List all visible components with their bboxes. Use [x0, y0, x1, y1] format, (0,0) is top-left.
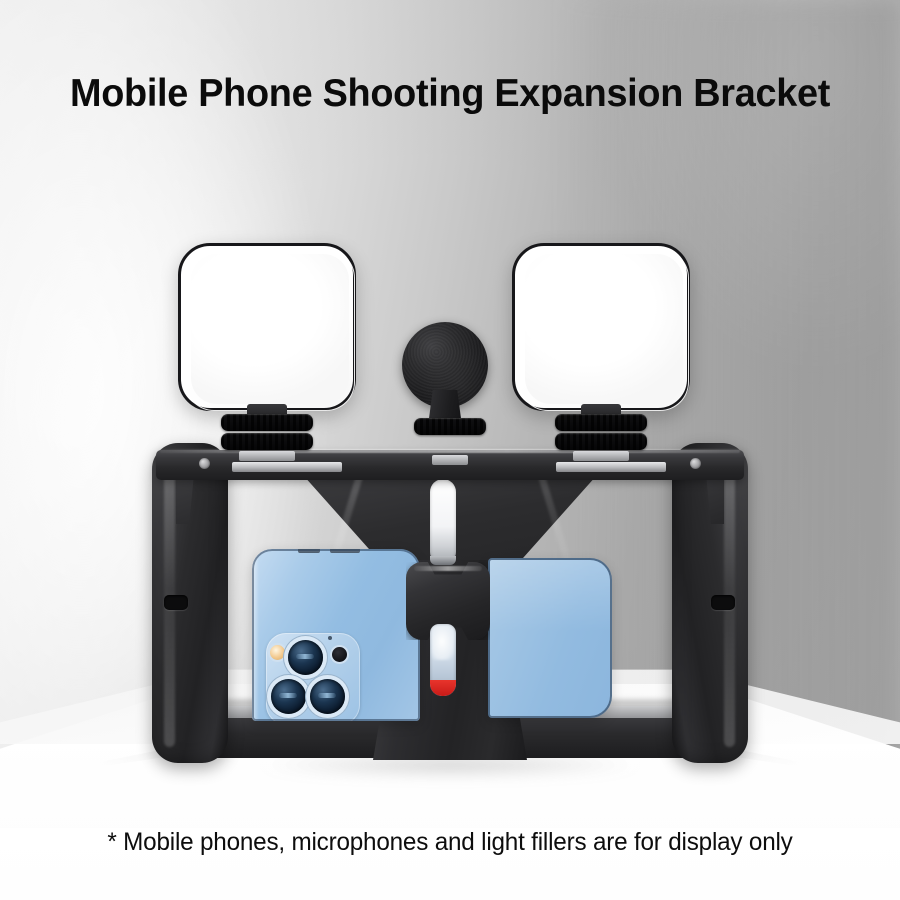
light-panel-rim: [185, 249, 355, 411]
disclaimer-text: * Mobile phones, microphones and light f…: [14, 828, 887, 857]
slot-reflection: [432, 626, 454, 660]
microphone: [390, 322, 500, 432]
light-panel-body: [178, 243, 356, 411]
frame-screw-right: [690, 458, 701, 469]
frame-screw-left: [199, 458, 210, 469]
handle-accessory-slot: [164, 595, 188, 610]
led-light-panel-right: [512, 243, 690, 428]
light-panel-rim: [519, 249, 689, 411]
shoe-foot-plate: [432, 455, 468, 465]
cold-shoe-mount-center: [404, 418, 496, 466]
knurled-knob-ring-upper: [555, 414, 647, 431]
knurled-knob-ring-lower: [221, 433, 313, 450]
cold-shoe-mount-right: [555, 414, 647, 462]
cold-shoe-rail-left: [232, 462, 342, 472]
shoe-foot-plate: [239, 451, 295, 461]
clamp-knob-highlight: [414, 566, 482, 571]
knurled-knob-ring-upper: [414, 418, 486, 435]
product-image: Mobile Phone Shooting Expansion Bracket …: [0, 0, 900, 900]
phone-screen-gloss: [490, 560, 610, 632]
upper-slot-cap: [430, 556, 456, 565]
cold-shoe-mount-left: [221, 414, 313, 462]
upper-adjustment-slot: [430, 479, 456, 565]
shoe-foot-plate: [573, 451, 629, 461]
led-light-panel-left: [178, 243, 356, 428]
phone-frame-rim: [252, 549, 420, 721]
lower-adjustment-slot: [430, 624, 456, 696]
knurled-knob-ring-lower: [555, 433, 647, 450]
phone-rear-sierra-blue: [252, 549, 420, 721]
light-panel-body: [512, 243, 690, 411]
knurled-knob-ring-upper: [221, 414, 313, 431]
phone-front-screen: [488, 558, 612, 718]
cold-shoe-rail-right: [556, 462, 666, 472]
page-title: Mobile Phone Shooting Expansion Bracket: [14, 72, 887, 116]
handle-accessory-slot: [711, 595, 735, 610]
